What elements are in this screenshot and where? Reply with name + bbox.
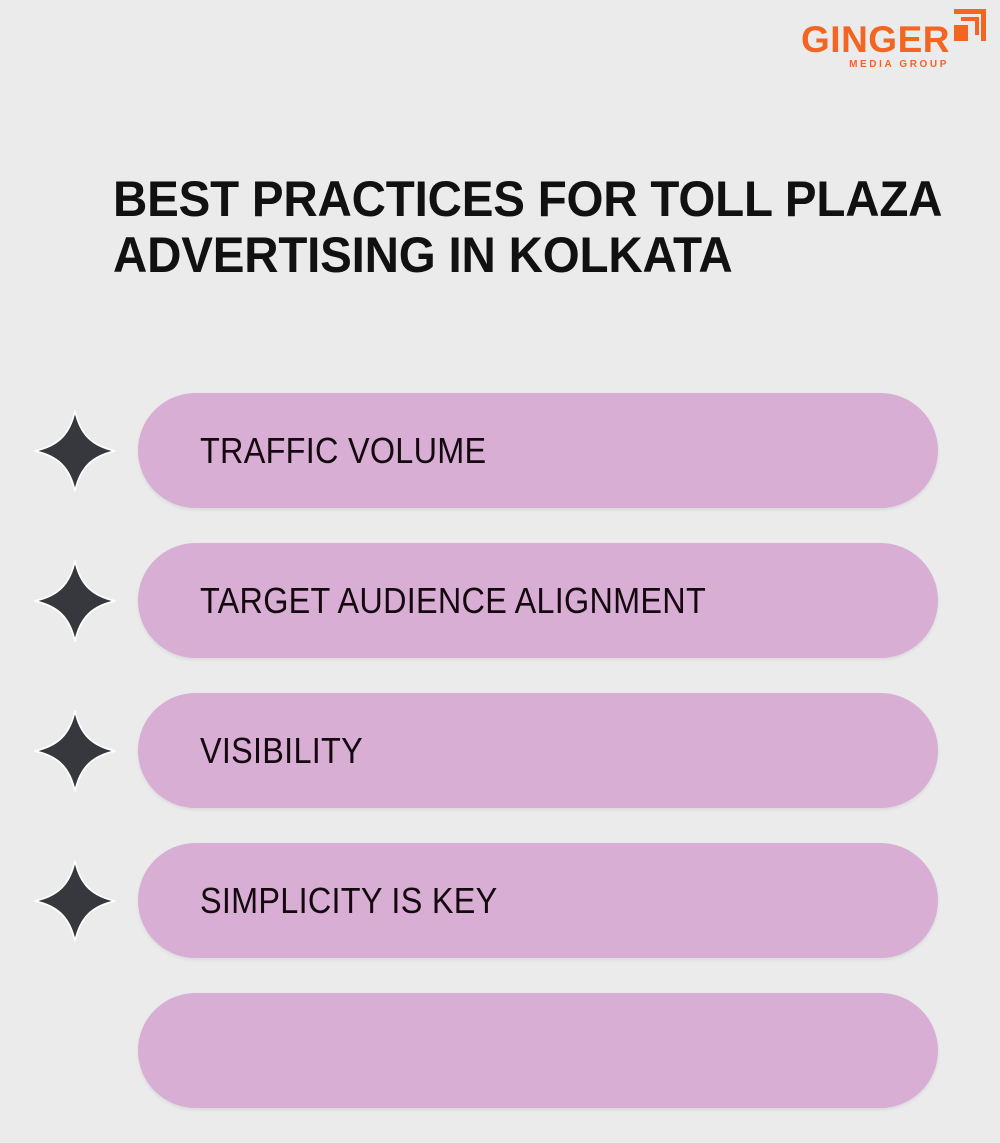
practice-label: SIMPLICITY IS KEY	[200, 880, 497, 922]
list-item[interactable]	[0, 993, 1000, 1108]
four-point-sparkle-icon	[33, 409, 117, 493]
practice-pill[interactable]: SIMPLICITY IS KEY	[138, 843, 938, 958]
practice-pill[interactable]: TRAFFIC VOLUME	[138, 393, 938, 508]
brand-tagline: MEDIA GROUP	[849, 60, 949, 70]
four-point-sparkle-icon	[33, 709, 117, 793]
nested-squares-icon	[953, 8, 987, 42]
brand-logo: GINGER MEDIA GROUP	[790, 8, 990, 80]
page-title-line-2: ADVERTISING IN KOLKATA	[113, 227, 883, 283]
list-item[interactable]: SIMPLICITY IS KEY	[0, 843, 1000, 958]
practice-label: VISIBILITY	[200, 730, 363, 772]
four-point-sparkle-icon	[33, 859, 117, 943]
page-title-line-1: BEST PRACTICES FOR TOLL PLAZA	[113, 171, 883, 227]
practice-list: TRAFFIC VOLUME TARGET AUDIENCE ALIGNMENT…	[0, 393, 1000, 1143]
list-item[interactable]: VISIBILITY	[0, 693, 1000, 808]
page-title: BEST PRACTICES FOR TOLL PLAZA ADVERTISIN…	[113, 171, 883, 283]
list-item[interactable]: TARGET AUDIENCE ALIGNMENT	[0, 543, 1000, 658]
practice-label: TRAFFIC VOLUME	[200, 430, 486, 472]
practice-pill[interactable]: VISIBILITY	[138, 693, 938, 808]
practice-pill[interactable]: TARGET AUDIENCE ALIGNMENT	[138, 543, 938, 658]
list-item[interactable]: TRAFFIC VOLUME	[0, 393, 1000, 508]
four-point-sparkle-icon	[33, 559, 117, 643]
brand-wordmark: GINGER	[801, 21, 950, 58]
practice-label: TARGET AUDIENCE ALIGNMENT	[200, 580, 706, 622]
practice-pill[interactable]	[138, 993, 938, 1108]
